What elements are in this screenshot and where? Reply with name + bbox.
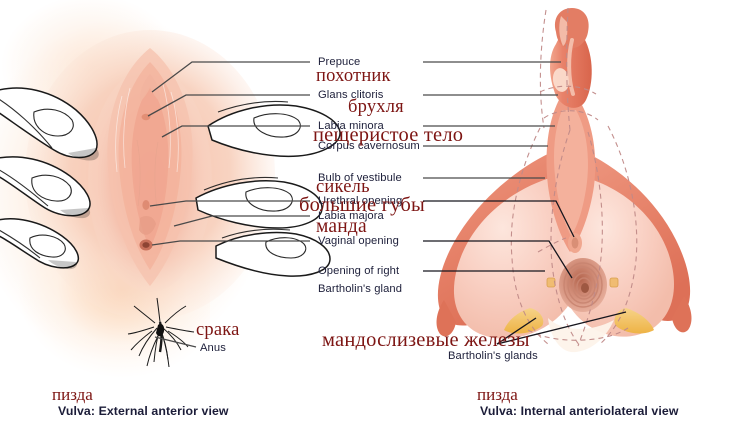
ru-label-labia-majora: манда [316, 216, 367, 238]
ru-label-prepuce: похотник [316, 66, 391, 87]
caption-left-en: Vulva: External anterior view [58, 404, 229, 418]
internal-clitoris-illustration [437, 8, 692, 352]
ru-label-anus: срака [196, 320, 240, 341]
caption-right-ru: пизда [477, 385, 518, 405]
external-vulva-illustration [0, 30, 340, 367]
ru-label-bartholins-glands: мандослизевые железы [322, 329, 530, 352]
label-bartholin-opening-line1: Opening of right [318, 265, 399, 277]
caption-left-ru: пизда [52, 385, 93, 405]
label-anus: Anus [200, 342, 226, 354]
ru-label-urethral-opening: большие губы [299, 194, 425, 217]
ru-label-labia-minora: пещеристое тело [313, 124, 463, 147]
figure-canvas: Prepuce Glans clitoris Labia minora Corp… [0, 0, 729, 428]
ru-label-glans-clitoris: брухля [348, 97, 404, 118]
caption-right-en: Vulva: Internal anteriolateral view [480, 404, 679, 418]
label-bartholin-opening-line2: Bartholin's gland [318, 283, 402, 295]
